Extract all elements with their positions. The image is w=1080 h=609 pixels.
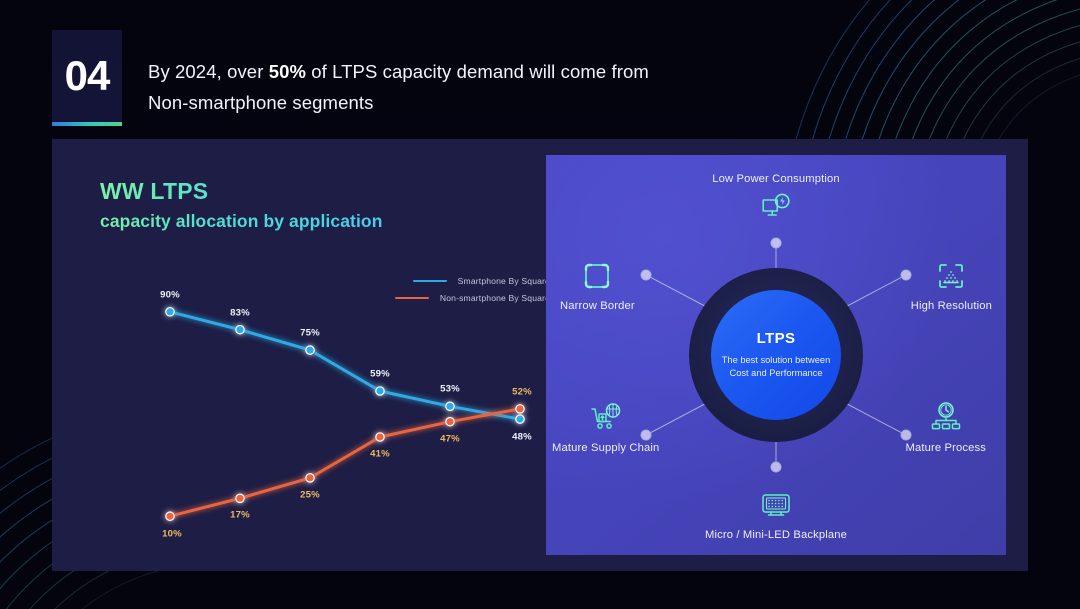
narrow-border-icon <box>580 259 614 293</box>
data-label: 17% <box>230 510 250 521</box>
data-point[interactable] <box>166 308 174 316</box>
data-point[interactable] <box>166 512 174 520</box>
headline-bold: 50% <box>269 61 306 82</box>
data-point[interactable] <box>236 494 244 502</box>
chart-title-sub: capacity allocation by application <box>100 211 383 232</box>
chart-title-main: WW LTPS <box>100 178 383 205</box>
core-subtitle-line-1: The best solution between <box>722 355 831 365</box>
clock-hierarchy-icon <box>929 401 963 435</box>
diagram-node-high-resolution[interactable]: High Resolution <box>911 259 992 312</box>
core-inner-circle: LTPS The best solution between Cost and … <box>711 290 841 420</box>
headline-line-2: Non-smartphone segments <box>148 87 649 118</box>
legend-item-0[interactable]: Smartphone By Square <box>350 276 550 286</box>
node-label-micro-led: Micro / Mini-LED Backplane <box>705 529 847 541</box>
node-label-high-resolution: High Resolution <box>911 300 992 312</box>
ltps-benefits-diagram: LTPS The best solution between Cost and … <box>546 155 1006 555</box>
core-title: LTPS <box>757 330 796 347</box>
headline-post: of LTPS capacity demand will come from <box>306 61 649 82</box>
chart-plot: 90%83%75%59%53%48%10%17%25%41%47%52% <box>150 299 540 529</box>
slide-number: 04 <box>65 52 110 100</box>
slide-header: 04 By 2024, over 50% of LTPS capacity de… <box>52 30 649 122</box>
data-point[interactable] <box>236 325 244 333</box>
slide-number-badge: 04 <box>52 30 122 122</box>
led-panel-icon <box>759 488 793 522</box>
data-point[interactable] <box>446 417 454 425</box>
diagram-node-low-power[interactable]: Low Power Consumption <box>712 173 840 226</box>
data-label: 52% <box>512 386 532 397</box>
data-label: 41% <box>370 449 390 460</box>
diagram-node-micro-led[interactable]: Micro / Mini-LED Backplane <box>705 488 847 541</box>
core-subtitle: The best solution between Cost and Perfo… <box>722 354 831 380</box>
data-point[interactable] <box>306 474 314 482</box>
data-label: 25% <box>300 489 320 500</box>
node-label-supply-chain: Mature Supply Chain <box>552 442 659 454</box>
data-point[interactable] <box>306 346 314 354</box>
chart-title: WW LTPS capacity allocation by applicati… <box>100 178 383 232</box>
legend-label: Smartphone By Square <box>458 276 550 286</box>
series-0 <box>166 308 524 424</box>
node-label-mature-process: Mature Process <box>906 442 986 454</box>
core-subtitle-line-2: Cost and Performance <box>729 368 822 378</box>
diagram-node-mature-process[interactable]: Mature Process <box>906 401 986 454</box>
diagram-node-supply-chain[interactable]: Mature Supply Chain <box>552 401 659 454</box>
data-label: 83% <box>230 307 250 318</box>
data-point[interactable] <box>376 387 384 395</box>
data-label: 59% <box>370 369 390 380</box>
legend-swatch <box>413 280 447 283</box>
diagram-core: LTPS The best solution between Cost and … <box>689 268 863 442</box>
chart-panel: WW LTPS capacity allocation by applicati… <box>52 139 546 571</box>
headline: By 2024, over 50% of LTPS capacity deman… <box>148 30 649 118</box>
series-1 <box>166 405 524 521</box>
data-point[interactable] <box>516 405 524 413</box>
node-label-narrow-border: Narrow Border <box>560 300 635 312</box>
data-label: 75% <box>300 328 320 339</box>
node-label-low-power: Low Power Consumption <box>712 173 840 185</box>
supply-chain-icon <box>589 401 623 435</box>
resolution-frame-icon <box>934 259 968 293</box>
headline-pre: By 2024, over <box>148 61 269 82</box>
monitor-bolt-icon <box>759 192 793 226</box>
data-label: 90% <box>160 289 180 300</box>
data-label: 48% <box>512 432 532 443</box>
data-label: 47% <box>440 433 460 444</box>
headline-line-1: By 2024, over 50% of LTPS capacity deman… <box>148 56 649 87</box>
data-label: 10% <box>162 529 182 540</box>
data-point[interactable] <box>446 402 454 410</box>
data-point[interactable] <box>516 415 524 423</box>
data-label: 53% <box>440 384 460 395</box>
content-card: WW LTPS capacity allocation by applicati… <box>52 139 1028 571</box>
diagram-node-narrow-border[interactable]: Narrow Border <box>560 259 635 312</box>
core-outer-ring: LTPS The best solution between Cost and … <box>689 268 863 442</box>
data-point[interactable] <box>376 433 384 441</box>
